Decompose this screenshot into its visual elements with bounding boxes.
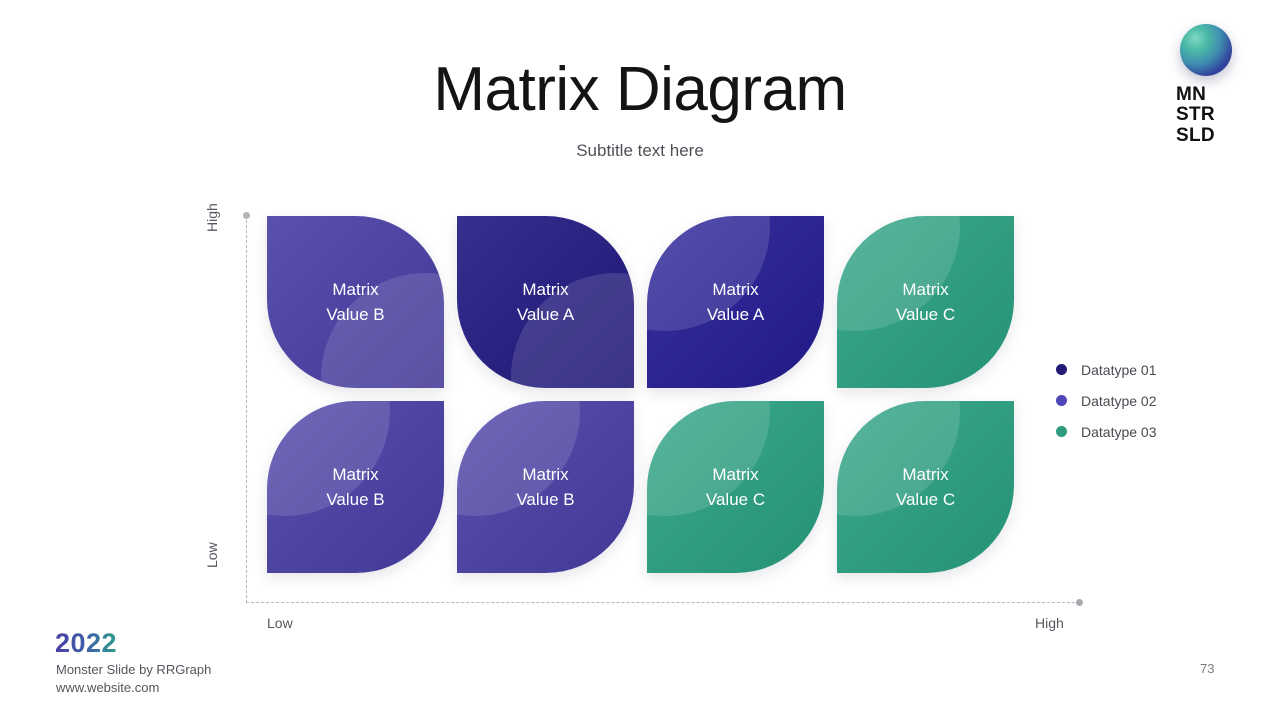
matrix-tile-label-line-2: Value A xyxy=(707,302,764,327)
brand-line-3: SLD xyxy=(1176,126,1238,146)
footer-credit: Monster Slide by RRGraph www.website.com xyxy=(56,661,211,698)
matrix-tile[interactable]: MatrixValue C xyxy=(837,401,1014,573)
legend-color-dot-icon xyxy=(1056,426,1067,437)
x-axis-endpoint-dot xyxy=(1076,599,1083,606)
matrix-tile-label-line-2: Value A xyxy=(517,302,574,327)
matrix-tile-label: MatrixValue C xyxy=(837,216,1014,388)
x-axis-label-low: Low xyxy=(267,615,293,631)
y-axis-label-high: High xyxy=(204,203,220,232)
legend: Datatype 01Datatype 02Datatype 03 xyxy=(1056,354,1226,447)
page-title: Matrix Diagram xyxy=(0,57,1280,122)
footer-year: 2022 xyxy=(55,628,117,659)
legend-item[interactable]: Datatype 02 xyxy=(1056,385,1226,416)
legend-color-dot-icon xyxy=(1056,364,1067,375)
matrix-tile-label: MatrixValue B xyxy=(267,216,444,388)
page-subtitle: Subtitle text here xyxy=(0,141,1280,161)
footer-credit-line-2: www.website.com xyxy=(56,679,211,697)
legend-item-label: Datatype 02 xyxy=(1081,393,1157,409)
matrix-tile-label-line-2: Value C xyxy=(896,487,955,512)
matrix-tile[interactable]: MatrixValue C xyxy=(837,216,1014,388)
legend-item-label: Datatype 01 xyxy=(1081,362,1157,378)
footer-credit-line-1: Monster Slide by RRGraph xyxy=(56,661,211,679)
matrix-tile-label-line-1: Matrix xyxy=(522,462,568,487)
y-axis-label-low: Low xyxy=(204,542,220,568)
matrix-tile-label-line-1: Matrix xyxy=(712,277,758,302)
x-axis-label-high: High xyxy=(1035,615,1064,631)
matrix-tile-label-line-2: Value B xyxy=(516,487,574,512)
brand-logo: MN STR SLD xyxy=(1176,24,1238,146)
legend-item[interactable]: Datatype 03 xyxy=(1056,416,1226,447)
brand-wordmark: MN STR SLD xyxy=(1176,85,1238,146)
brand-line-1: MN xyxy=(1176,85,1238,105)
y-axis-endpoint-dot xyxy=(243,212,250,219)
matrix-tile-label: MatrixValue A xyxy=(457,216,634,388)
matrix-tile-label-line-1: Matrix xyxy=(522,277,568,302)
matrix-tile-label-line-2: Value C xyxy=(896,302,955,327)
matrix-tile-label: MatrixValue C xyxy=(647,401,824,573)
matrix-tile[interactable]: MatrixValue A xyxy=(647,216,824,388)
matrix-tile-label-line-2: Value C xyxy=(706,487,765,512)
matrix-tile-label-line-1: Matrix xyxy=(712,462,758,487)
matrix-tile-label-line-2: Value B xyxy=(326,302,384,327)
gradient-sphere-icon xyxy=(1180,24,1232,76)
matrix-tile-label-line-1: Matrix xyxy=(902,277,948,302)
matrix-tile-label: MatrixValue B xyxy=(267,401,444,573)
legend-color-dot-icon xyxy=(1056,395,1067,406)
matrix-tile-label: MatrixValue C xyxy=(837,401,1014,573)
matrix-tile[interactable]: MatrixValue A xyxy=(457,216,634,388)
matrix-tile-label-line-1: Matrix xyxy=(332,277,378,302)
matrix-tile[interactable]: MatrixValue B xyxy=(267,216,444,388)
matrix-tile-label-line-2: Value B xyxy=(326,487,384,512)
matrix-tile-label: MatrixValue A xyxy=(647,216,824,388)
matrix-tile[interactable]: MatrixValue B xyxy=(457,401,634,573)
y-axis-line xyxy=(246,215,247,603)
legend-item[interactable]: Datatype 01 xyxy=(1056,354,1226,385)
matrix-diagram: High Low Low High MatrixValue BMatrixVal… xyxy=(240,210,1090,620)
legend-item-label: Datatype 03 xyxy=(1081,424,1157,440)
matrix-tile-label: MatrixValue B xyxy=(457,401,634,573)
matrix-tile-grid: MatrixValue BMatrixValue AMatrixValue AM… xyxy=(267,216,1013,584)
x-axis-line xyxy=(246,602,1080,603)
matrix-tile[interactable]: MatrixValue B xyxy=(267,401,444,573)
brand-line-2: STR xyxy=(1176,105,1238,125)
matrix-tile-label-line-1: Matrix xyxy=(332,462,378,487)
matrix-tile[interactable]: MatrixValue C xyxy=(647,401,824,573)
matrix-tile-label-line-1: Matrix xyxy=(902,462,948,487)
page-number: 73 xyxy=(1200,661,1214,676)
